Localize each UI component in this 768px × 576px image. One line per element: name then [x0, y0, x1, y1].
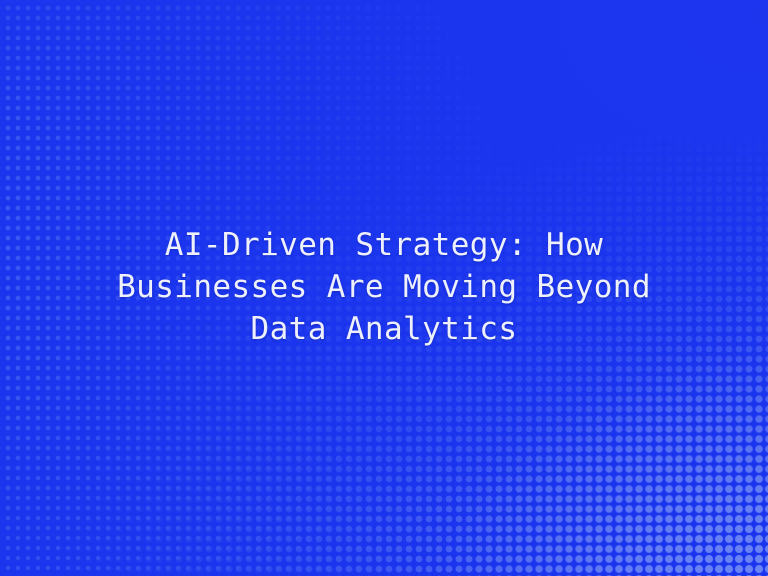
- page-title: AI-Driven Strategy: How Businesses Are M…: [117, 224, 651, 350]
- title-card: AI-Driven Strategy: How Businesses Are M…: [0, 0, 768, 576]
- title-container: AI-Driven Strategy: How Businesses Are M…: [0, 0, 768, 576]
